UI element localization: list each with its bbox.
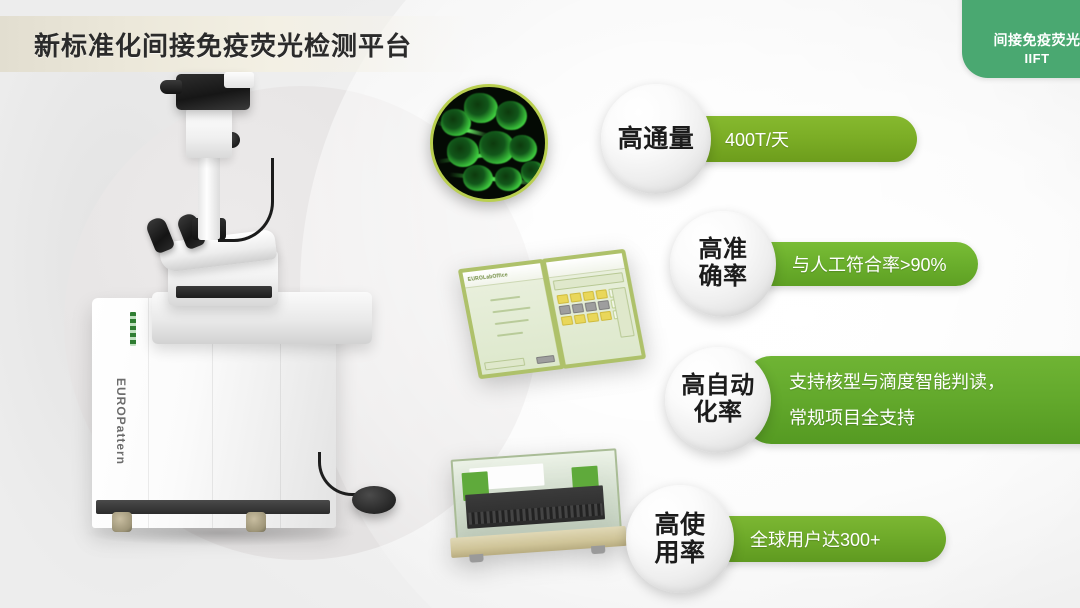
fluorescent-cell [521,161,545,184]
grid-cell [557,294,570,304]
screen-widget [536,355,555,364]
grid-cell [572,303,585,313]
feature-circle-1: 高通量 [601,84,711,194]
feature-circle-2-label-line1: 高准 [699,237,748,264]
fluorescent-cell [447,137,479,167]
feature-pill-3: 支持核型与滴度智能判读， 常规项目全支持 [745,356,1080,444]
grid-cell [574,314,587,324]
feature-circle-3-label-line2: 化率 [694,400,743,427]
feature-pill-1-line1: 400T/天 [725,126,917,152]
feature-pill-1: 400T/天 [685,116,917,162]
fluorescent-cell [495,167,522,191]
fluorescent-cell [509,135,537,162]
feature-pill-3-line2: 常规项目全支持 [789,409,1080,427]
grid-cell [587,312,600,322]
monitor-brand-label: EUROLabOffice [467,272,508,283]
instrument-glass-enclosure [451,448,622,539]
screen-line [495,319,529,325]
feature-circle-2: 高准 确率 [670,211,776,317]
feature-circle-1-label: 高通量 [618,125,695,153]
instrument-foot [469,554,484,563]
feature-row-high-throughput: 高通量 400T/天 [601,84,917,194]
microscope-eyecup [160,80,182,94]
monitor-left-screen [466,279,560,375]
cabinet-led-strip [130,312,136,346]
grid-cell [582,291,595,301]
grid-cell [600,311,613,321]
feature-circle-4-label-line2: 用率 [654,539,705,567]
grid-cell [561,316,574,326]
foot-pedal [352,486,396,514]
microscope-lamp-housing [186,108,232,158]
screen-line [490,296,520,302]
feature-row-high-automation: 高自动 化率 支持核型与滴度智能判读， 常规项目全支持 [665,347,1080,453]
immunofluorescence-image [430,84,548,202]
cabinet-seam [148,298,149,528]
software-monitors: EUROLabOffice [458,249,647,379]
slide-root: 新标准化间接免疫荧光检测平台 间接免疫荧光 IIFT EUROPattern [0,0,1080,608]
automation-instrument [444,446,627,566]
corner-badge: 间接免疫荧光 IIFT [962,0,1080,78]
feature-pill-4: 全球用户达300+ [708,516,946,562]
fluorescent-cell [464,93,498,123]
corner-badge-line1: 间接免疫荧光 [994,30,1080,50]
feature-circle-4-label-line1: 高使 [654,511,705,539]
monitor-right-screen [549,269,641,365]
page-title: 新标准化间接免疫荧光检测平台 [34,26,412,63]
feature-row-high-usage: 高使 用率 全球用户达300+ [626,485,946,593]
fluorescent-cell [496,101,527,130]
cabinet-foot [246,512,266,532]
grid-cell [584,302,597,312]
feature-pill-2-line1: 与人工符合率>90% [792,251,978,277]
feature-circle-4: 高使 用率 [626,485,734,593]
screen-line [497,332,523,337]
feature-pill-4-line1: 全球用户达300+ [750,526,946,552]
feature-circle-3-label-line1: 高自动 [681,373,755,400]
microscope-stage [176,286,272,298]
screen-line [492,307,530,314]
grid-cell [559,305,572,315]
feature-row-high-accuracy: 高准 确率 与人工符合率>90% [670,211,978,317]
grid-cell [597,300,610,310]
feature-circle-2-label-line2: 确率 [699,264,748,291]
feature-circle-3: 高自动 化率 [665,347,771,453]
feature-pill-3-line1: 支持核型与滴度智能判读， [789,373,1080,391]
cabinet-kickplate [96,500,330,514]
instrument-foot [591,545,606,554]
corner-badge-line2: IIFT [1024,51,1049,66]
cabinet-brand-label: EUROPattern [114,378,128,465]
grid-cell [569,292,582,302]
fluorescent-cell [463,165,493,191]
microscope-head-cap [224,72,254,88]
feature-pill-2: 与人工符合率>90% [750,242,978,286]
grid-cell [595,289,608,299]
cabinet-foot [112,512,132,532]
screen-statusbar [484,358,525,371]
